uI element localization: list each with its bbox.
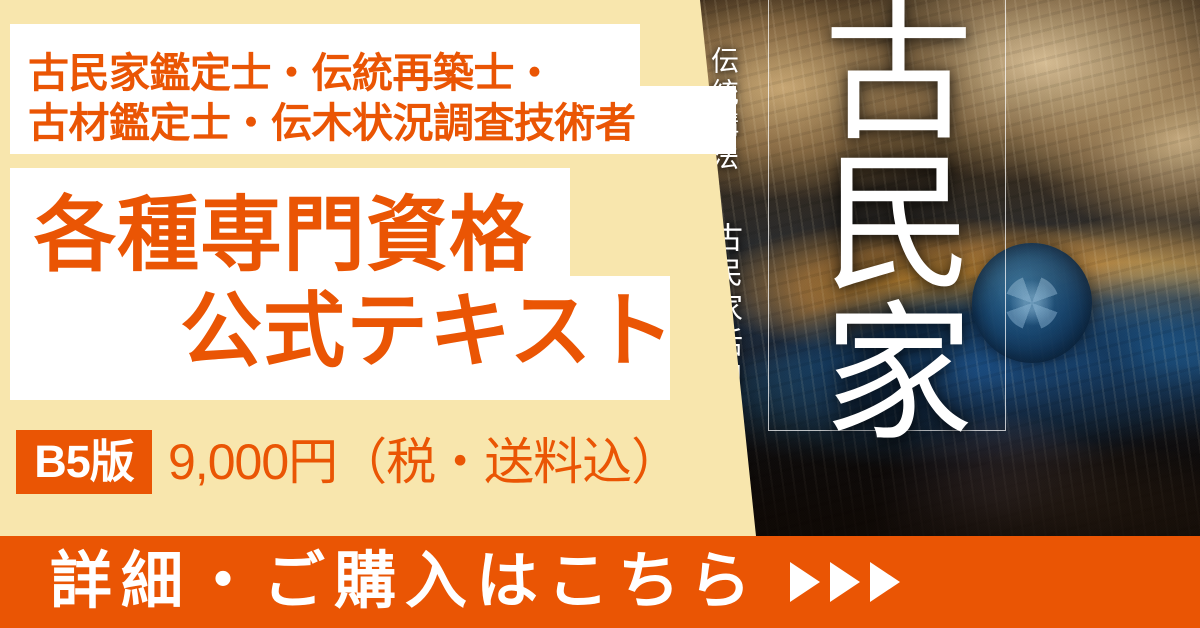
- triangle-right-icon: [870, 562, 900, 602]
- cta-bar[interactable]: 詳細・ご購入はこちら: [0, 536, 1200, 628]
- qualifications-line-1: 古民家鑑定士・伝統再築士・: [28, 48, 736, 98]
- qualifications-card: 古民家鑑定士・伝統再築士・ 古材鑑定士・伝木状況調査技術者: [10, 24, 736, 154]
- format-badge-b5: B5版: [16, 430, 152, 494]
- headline-line-2: 公式テキスト: [180, 286, 676, 378]
- qualifications-line-2: 古材鑑定士・伝木状況調査技術者: [28, 98, 736, 148]
- promo-banner: 古民家 伝統構法 古民家活用のための調査と再生の 古民家鑑定士・伝統再築士・ 古…: [0, 0, 1200, 628]
- price-text: 9,000円（税・送料込）: [168, 430, 680, 494]
- cta-label: 詳細・ご購入はこちら: [50, 536, 760, 628]
- triangle-right-icon: [830, 562, 860, 602]
- triangle-right-icon: [790, 562, 820, 602]
- qualifications-text: 古民家鑑定士・伝統再築士・ 古材鑑定士・伝木状況調査技術者: [28, 48, 736, 148]
- cover-title-text: 古民家: [788, 0, 958, 444]
- headline-line-1: 各種専門資格: [34, 190, 532, 282]
- book-cover-image: 古民家 伝統構法 古民家活用のための調査と再生の: [680, 0, 1200, 628]
- cta-arrows: [790, 562, 900, 602]
